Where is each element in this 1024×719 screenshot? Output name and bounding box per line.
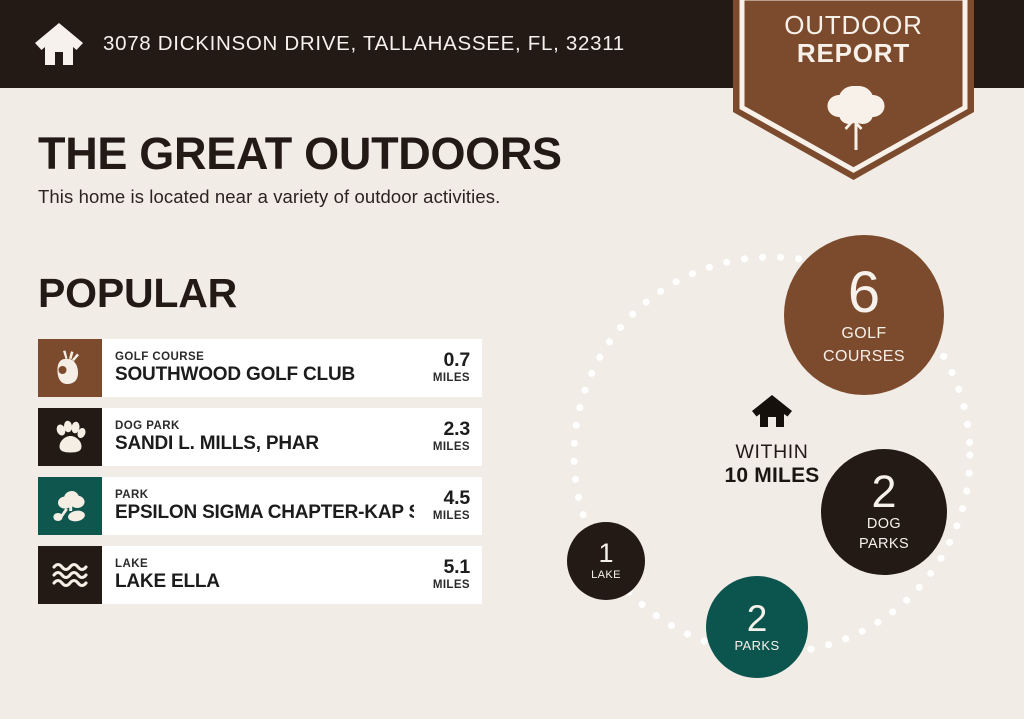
distance-unit: MILES [433, 440, 470, 455]
list-item[interactable]: GOLF COURSE SOUTHWOOD GOLF CLUB 0.7 MILE… [38, 339, 482, 397]
section-title-popular: POPULAR [38, 270, 237, 317]
golf-bag-icon-tile [38, 339, 102, 397]
page-title: THE GREAT OUTDOORS [38, 128, 562, 180]
bubble-label-line1: DOG [867, 517, 901, 533]
distance-value: 4.5 [443, 488, 470, 508]
list-item-category: DOG PARK [115, 419, 414, 433]
list-item-category: LAKE [115, 557, 414, 571]
list-item-name: EPSILON SIGMA CHAPTER-KAP SIG [115, 502, 414, 524]
bubble-lake[interactable]: 1 LAKE [567, 522, 645, 600]
list-item-text: LAKE LAKE ELLA [102, 546, 414, 604]
distance-value: 0.7 [443, 350, 470, 370]
list-item-category: PARK [115, 488, 414, 502]
bubble-dog-parks[interactable]: 2 DOG PARKS [821, 449, 947, 575]
property-address: 3078 DICKINSON DRIVE, TALLAHASSEE, FL, 3… [103, 32, 625, 56]
diagram-center: WITHIN 10 MILES [687, 393, 857, 488]
infographic-page: 3078 DICKINSON DRIVE, TALLAHASSEE, FL, 3… [0, 0, 1024, 719]
bubble-golf-courses[interactable]: 6 GOLF COURSES [784, 235, 944, 395]
water-waves-icon [51, 560, 89, 590]
list-item-distance: 2.3 MILES [414, 408, 482, 466]
list-item-category: GOLF COURSE [115, 350, 414, 364]
paw-print-icon [53, 420, 87, 454]
paw-print-icon-tile [38, 408, 102, 466]
page-subtitle: This home is located near a variety of o… [38, 186, 500, 208]
bubble-count: 6 [848, 265, 880, 320]
park-trees-icon-tile [38, 477, 102, 535]
list-item-distance: 4.5 MILES [414, 477, 482, 535]
outdoor-report-badge: OUTDOOR REPORT [733, 0, 974, 180]
bubble-label-line1: LAKE [591, 569, 621, 581]
golf-bag-icon [53, 350, 87, 386]
distance-value: 5.1 [443, 557, 470, 577]
distance-value: 2.3 [443, 419, 470, 439]
bubble-label-line2: PARKS [859, 537, 909, 553]
distance-unit: MILES [433, 578, 470, 593]
bubble-label-line2: COURSES [823, 348, 905, 366]
home-icon [687, 393, 857, 434]
bubble-count: 1 [598, 541, 613, 567]
distance-unit: MILES [433, 371, 470, 386]
list-item[interactable]: DOG PARK SANDI L. MILLS, PHAR 2.3 MILES [38, 408, 482, 466]
list-item-text: DOG PARK SANDI L. MILLS, PHAR [102, 408, 414, 466]
bubble-count: 2 [871, 471, 896, 514]
list-item-name: SOUTHWOOD GOLF CLUB [115, 364, 414, 386]
bubble-parks[interactable]: 2 PARKS [706, 576, 808, 678]
list-item[interactable]: PARK EPSILON SIGMA CHAPTER-KAP SIG 4.5 M… [38, 477, 482, 535]
bubble-count: 2 [747, 601, 768, 636]
list-item-name: LAKE ELLA [115, 571, 414, 593]
list-item-text: PARK EPSILON SIGMA CHAPTER-KAP SIG [102, 477, 414, 535]
nearby-counts-diagram: WITHIN 10 MILES 6 GOLF COURSES 2 DOG PAR… [520, 215, 1024, 685]
popular-places-list: GOLF COURSE SOUTHWOOD GOLF CLUB 0.7 MILE… [38, 339, 482, 615]
bubble-label-line1: PARKS [734, 639, 779, 653]
list-item-name: SANDI L. MILLS, PHAR [115, 433, 414, 455]
list-item-distance: 5.1 MILES [414, 546, 482, 604]
home-icon [33, 20, 85, 68]
list-item-text: GOLF COURSE SOUTHWOOD GOLF CLUB [102, 339, 414, 397]
distance-unit: MILES [433, 509, 470, 524]
list-item[interactable]: LAKE LAKE ELLA 5.1 MILES [38, 546, 482, 604]
list-item-distance: 0.7 MILES [414, 339, 482, 397]
bubble-label-line1: GOLF [841, 325, 886, 343]
center-label-line1: WITHIN [687, 442, 857, 464]
park-trees-icon [52, 489, 88, 523]
water-waves-icon-tile [38, 546, 102, 604]
